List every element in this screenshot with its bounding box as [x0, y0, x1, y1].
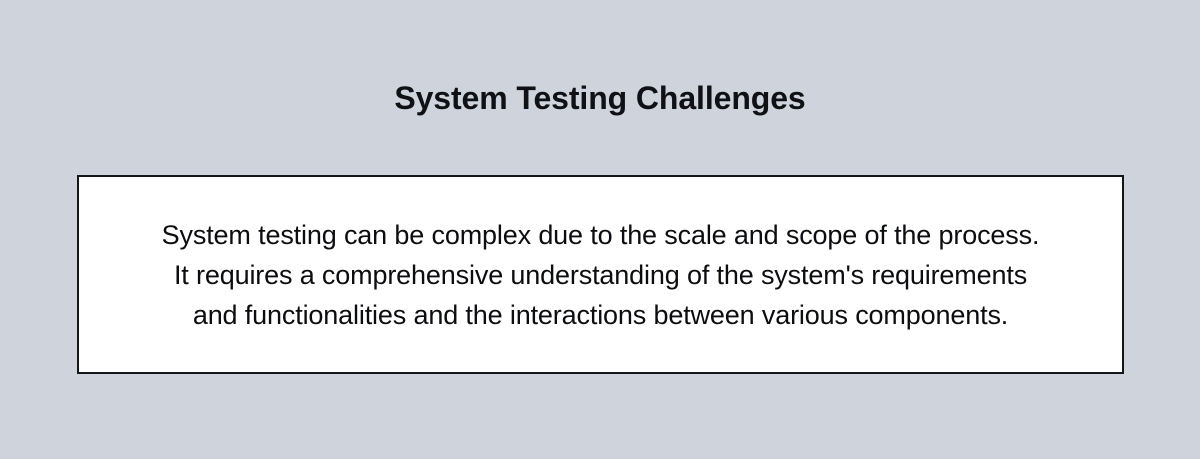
content-box: System testing can be complex due to the… [77, 175, 1124, 374]
page-title: System Testing Challenges [0, 76, 1200, 120]
body-paragraph-line: and functionalities and the interactions… [93, 295, 1108, 335]
body-paragraph: System testing can be complex due to the… [79, 215, 1122, 335]
slide-canvas: System Testing Challenges System testing… [0, 0, 1200, 459]
body-paragraph-line: It requires a comprehensive understandin… [93, 255, 1108, 295]
body-paragraph-line: System testing can be complex due to the… [93, 215, 1108, 255]
